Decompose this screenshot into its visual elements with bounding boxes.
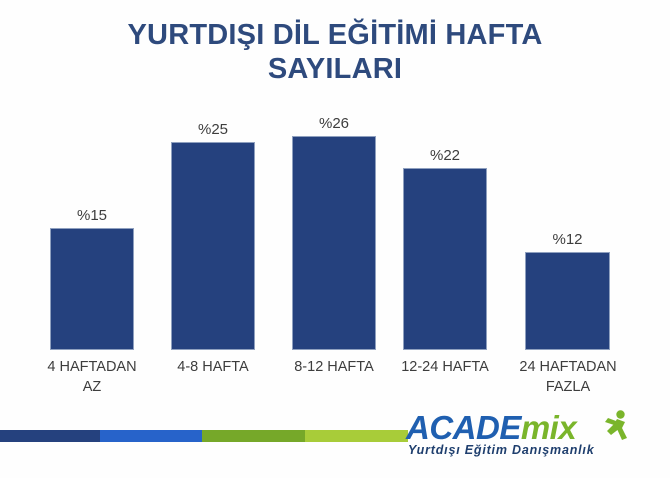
bar-value-3: %26 [292,115,376,132]
category-label-1: 4 HAFTADAN AZ [36,358,148,397]
category-label-5-line-2: FAZLA [546,379,590,395]
category-axis: 4 HAFTADAN AZ 4-8 HAFTA 8-12 HAFTA 12-24… [0,358,670,414]
bar-group-1: %15 [50,110,134,350]
bar-group-2: %25 [171,110,255,350]
bar-group-5: %12 [525,110,610,350]
bar-value-5: %12 [525,231,610,248]
category-label-1-line-1: 4 HAFTADAN [47,359,136,375]
category-label-1-line-2: AZ [83,379,102,395]
bar-5[interactable] [525,252,610,350]
footer-color-bar [0,430,408,442]
page-title-line-2: SAYILARI [0,52,670,86]
logo-tagline: Yurtdışı Eğitim Danışmanlık [408,443,594,457]
bar-4[interactable] [403,168,487,350]
color-bar-segment-light-green [305,430,408,442]
page-title-line-1: YURTDIŞI DİL EĞİTİMİ HAFTA [0,18,670,52]
color-bar-segment-olive-green [202,430,305,442]
slide-canvas: YURTDIŞI DİL EĞİTİMİ HAFTA SAYILARI %15 … [0,0,670,478]
category-label-4: 12-24 HAFTA [389,358,501,378]
page-title: YURTDIŞI DİL EĞİTİMİ HAFTA SAYILARI [0,18,670,86]
bar-3[interactable] [292,136,376,350]
category-label-3: 8-12 HAFTA [278,358,390,378]
bar-group-3: %26 [292,110,376,350]
category-label-4-line-1: 12-24 HAFTA [401,359,489,375]
bar-chart-plot-area: %15 %25 %26 %22 %12 [0,110,670,350]
academix-logo[interactable]: ACADEmix Yurtdışı Eğitim Danışmanlık [406,411,636,471]
color-bar-segment-blue [100,430,202,442]
category-label-2: 4-8 HAFTA [157,358,269,378]
category-label-5-line-1: 24 HAFTADAN [519,359,616,375]
color-bar-segment-navy [0,430,100,442]
category-label-3-line-1: 8-12 HAFTA [294,359,374,375]
logo-word-blue: ACADE [406,409,521,446]
category-label-5: 24 HAFTADAN FAZLA [511,358,625,397]
logo-word-green: mix [521,409,576,446]
bar-1[interactable] [50,228,134,350]
logo-wordmark: ACADEmix [406,411,576,444]
bar-value-4: %22 [403,147,487,164]
bar-group-4: %22 [403,110,487,350]
bar-value-2: %25 [171,121,255,138]
category-label-2-line-1: 4-8 HAFTA [177,359,248,375]
bar-2[interactable] [171,142,255,350]
bar-value-1: %15 [50,207,134,224]
running-person-icon [598,409,632,443]
